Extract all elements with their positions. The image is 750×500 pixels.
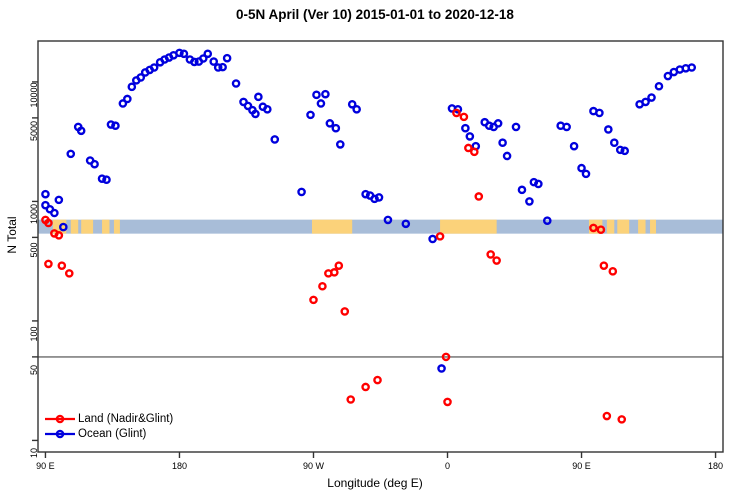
- x-tick-label: 90 E: [15, 461, 75, 471]
- y-tick-label: 5000: [29, 116, 39, 146]
- series-ocean-glint: [42, 50, 694, 372]
- y-tick-label: 50: [29, 355, 39, 385]
- legend-markers: [45, 416, 75, 437]
- y-axis-title: N Total: [5, 175, 19, 295]
- x-axis-title: Longitude (deg E): [0, 476, 750, 490]
- y-tick-label: 500: [29, 235, 39, 265]
- y-tick-label: 1000: [29, 199, 39, 229]
- x-tick-label: 180: [686, 461, 746, 471]
- legend-label-ocean: Ocean (Glint): [78, 428, 146, 440]
- x-tick-label: 90 W: [283, 461, 343, 471]
- y-tick-label: 100: [29, 319, 39, 349]
- page-title: 0-5N April (Ver 10) 2015-01-01 to 2020-1…: [0, 7, 750, 22]
- y-tick-label: 10000: [29, 80, 39, 110]
- x-tick-label: 180: [149, 461, 209, 471]
- legend-label-land: Land (Nadir&Glint): [78, 413, 173, 425]
- world-map-strip: [38, 220, 723, 234]
- axis-ticks: [32, 82, 716, 458]
- plot-frame: [38, 41, 723, 452]
- series-land-nadir-glint: [42, 110, 624, 423]
- scatter-plot-figure: 0-5N April (Ver 10) 2015-01-01 to 2020-1…: [0, 0, 750, 500]
- x-tick-label: 90 E: [552, 461, 612, 471]
- x-tick-label: 0: [418, 461, 478, 471]
- plot-canvas: [0, 0, 750, 500]
